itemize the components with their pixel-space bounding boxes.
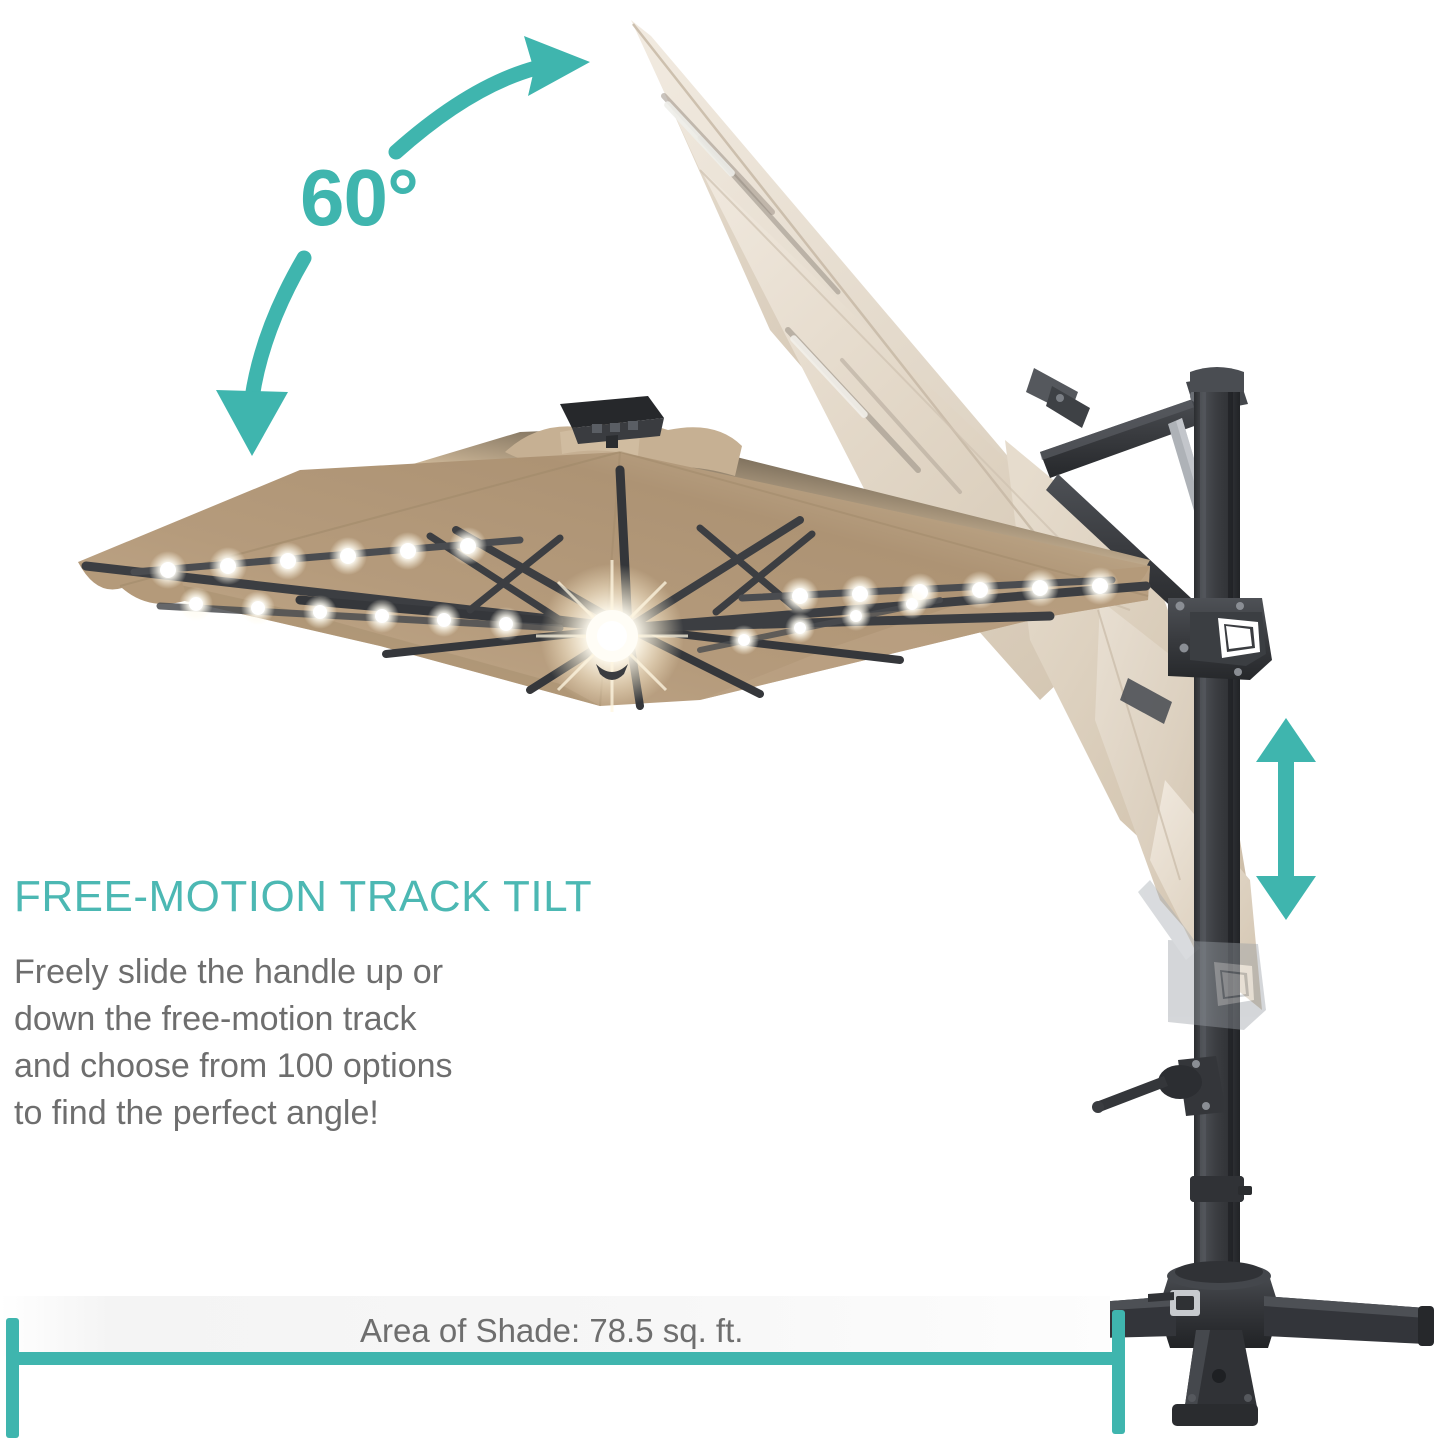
feature-description-line: and choose from 100 options <box>14 1043 634 1090</box>
feature-description-line: down the free-motion track <box>14 996 634 1043</box>
center-led-hub <box>536 560 688 712</box>
double-arrow-vertical-icon <box>1256 718 1316 920</box>
crank-lever[interactable] <box>1092 1056 1226 1116</box>
tilt-angle-label: 60° <box>300 158 418 238</box>
curved-arrow-down-left-icon <box>216 258 304 456</box>
infographic-canvas: 60° FREE-MOTION TRACK TILT Freely slide … <box>0 0 1445 1443</box>
mast-pole <box>1190 367 1252 1278</box>
curved-arrow-up-right-icon <box>396 36 590 152</box>
feature-description-line: to find the perfect angle! <box>14 1090 634 1137</box>
product-illustration <box>0 0 1445 1443</box>
feature-description-line: Freely slide the handle up or <box>14 949 634 996</box>
feature-heading: FREE-MOTION TRACK TILT <box>14 875 592 919</box>
shade-area-label: Area of Shade: 78.5 sq. ft. <box>360 1312 743 1350</box>
upper-canopy-hinge <box>1026 368 1090 428</box>
track-handle-grip[interactable] <box>1168 598 1272 680</box>
feature-description: Freely slide the handle up or down the f… <box>14 949 634 1137</box>
